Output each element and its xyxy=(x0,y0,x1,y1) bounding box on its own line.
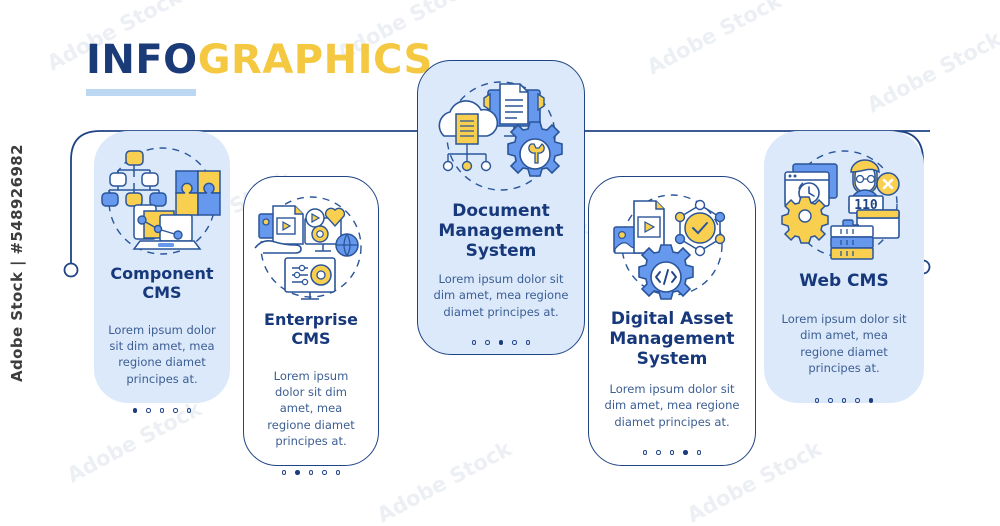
media-network-code-gear-icon xyxy=(602,191,742,303)
dot-2[interactable] xyxy=(828,398,833,403)
card-title-line: CMS xyxy=(110,284,213,303)
card-title-web-cms: Web CMS xyxy=(791,271,896,291)
title-underline xyxy=(86,89,196,96)
card-title-line: System xyxy=(438,241,563,261)
card-illustration-dams xyxy=(589,189,755,305)
dot-1[interactable] xyxy=(133,408,138,413)
card-title-dms: Document Management System xyxy=(430,201,571,261)
dot-2[interactable] xyxy=(485,340,490,345)
dot-5[interactable] xyxy=(869,398,874,403)
watermark-side-text: Adobe Stock | #548926982 xyxy=(2,0,32,526)
card-illustration-enterprise-cms xyxy=(244,189,378,307)
card-component-cms[interactable]: Component CMS Lorem ipsum dolor sit dim … xyxy=(94,131,230,403)
card-dots-web-cms[interactable] xyxy=(815,398,874,403)
card-dots-dms[interactable] xyxy=(472,340,531,345)
card-title-line: Management xyxy=(438,221,563,241)
dot-3[interactable] xyxy=(160,408,165,413)
dot-5[interactable] xyxy=(336,470,341,475)
dot-4[interactable] xyxy=(512,340,517,345)
watermark-tile: Adobe Stock xyxy=(373,437,515,526)
title-text: INFOGRAPHICS xyxy=(86,40,433,80)
dot-5[interactable] xyxy=(526,340,531,345)
card-title-line: System xyxy=(609,349,734,369)
card-title-line: Web CMS xyxy=(799,271,888,291)
dot-4[interactable] xyxy=(855,398,860,403)
title-part-graphics: GRAPHICS xyxy=(198,37,433,83)
infographic-canvas: Adobe Stock Adobe Stock Adobe Stock Adob… xyxy=(0,0,1000,526)
dot-2[interactable] xyxy=(656,450,661,455)
cloud-document-gear-icon xyxy=(426,78,576,196)
card-title-line: Document xyxy=(438,201,563,221)
hierarchy-puzzle-laptop-icon xyxy=(96,143,228,261)
card-title-line: Component xyxy=(110,265,213,284)
dot-3[interactable] xyxy=(842,398,847,403)
card-body-web-cms: Lorem ipsum dolor sit dim amet, mea regi… xyxy=(764,311,924,376)
dot-2[interactable] xyxy=(146,408,151,413)
dot-3[interactable] xyxy=(670,450,675,455)
watermark-tile: Adobe Stock xyxy=(863,27,1000,118)
card-illustration-web-cms: 110 xyxy=(764,143,924,267)
card-illustration-component-cms xyxy=(94,141,230,263)
card-dots-component-cms[interactable] xyxy=(133,408,192,413)
connector-endpoint-left xyxy=(65,264,78,277)
card-title-dams: Digital Asset Management System xyxy=(601,309,742,369)
card-title-line: Digital Asset xyxy=(609,309,734,329)
card-title-line: Management xyxy=(609,329,734,349)
card-body-enterprise-cms: Lorem ipsum dolor sit dim amet, mea regi… xyxy=(244,368,378,450)
card-title-component-cms: Component CMS xyxy=(102,265,221,303)
dot-5[interactable] xyxy=(697,450,702,455)
card-body-dams: Lorem ipsum dolor sit dim amet, mea regi… xyxy=(589,381,755,430)
hand-media-monitor-globe-icon xyxy=(247,192,375,304)
page-title: INFOGRAPHICS xyxy=(86,40,433,96)
dot-4[interactable] xyxy=(683,450,688,455)
watermark-side-label: Adobe Stock | #548926982 xyxy=(8,144,26,382)
card-body-dms: Lorem ipsum dolor sit dim amet, mea regi… xyxy=(418,271,584,320)
card-web-cms[interactable]: 110 Web CMS Lorem ipsum dolor sit dim am… xyxy=(764,131,924,403)
card-document-management-system[interactable]: Document Management System Lorem ipsum d… xyxy=(417,60,585,355)
card-body-component-cms: Lorem ipsum dolor sit dim amet, mea regi… xyxy=(94,322,230,387)
browser-user-server-icon: 110 xyxy=(771,146,917,264)
dot-1[interactable] xyxy=(815,398,820,403)
dot-1[interactable] xyxy=(643,450,648,455)
card-title-line: CMS xyxy=(264,330,358,349)
dot-1[interactable] xyxy=(282,470,287,475)
dot-5[interactable] xyxy=(187,408,192,413)
card-illustration-dms xyxy=(418,75,584,199)
dot-3[interactable] xyxy=(499,340,504,345)
card-dots-enterprise-cms[interactable] xyxy=(282,470,341,475)
dot-2[interactable] xyxy=(295,470,300,475)
card-title-line: Enterprise xyxy=(264,311,358,330)
card-title-enterprise-cms: Enterprise CMS xyxy=(256,311,366,349)
dot-4[interactable] xyxy=(173,408,178,413)
card-digital-asset-management-system[interactable]: Digital Asset Management System Lorem ip… xyxy=(588,176,756,466)
card-dots-dams[interactable] xyxy=(643,450,702,455)
dot-3[interactable] xyxy=(309,470,314,475)
title-part-info: INFO xyxy=(86,37,198,83)
dot-1[interactable] xyxy=(472,340,477,345)
dot-4[interactable] xyxy=(322,470,327,475)
watermark-tile: Adobe Stock xyxy=(643,0,785,79)
card-enterprise-cms[interactable]: Enterprise CMS Lorem ipsum dolor sit dim… xyxy=(243,176,379,466)
